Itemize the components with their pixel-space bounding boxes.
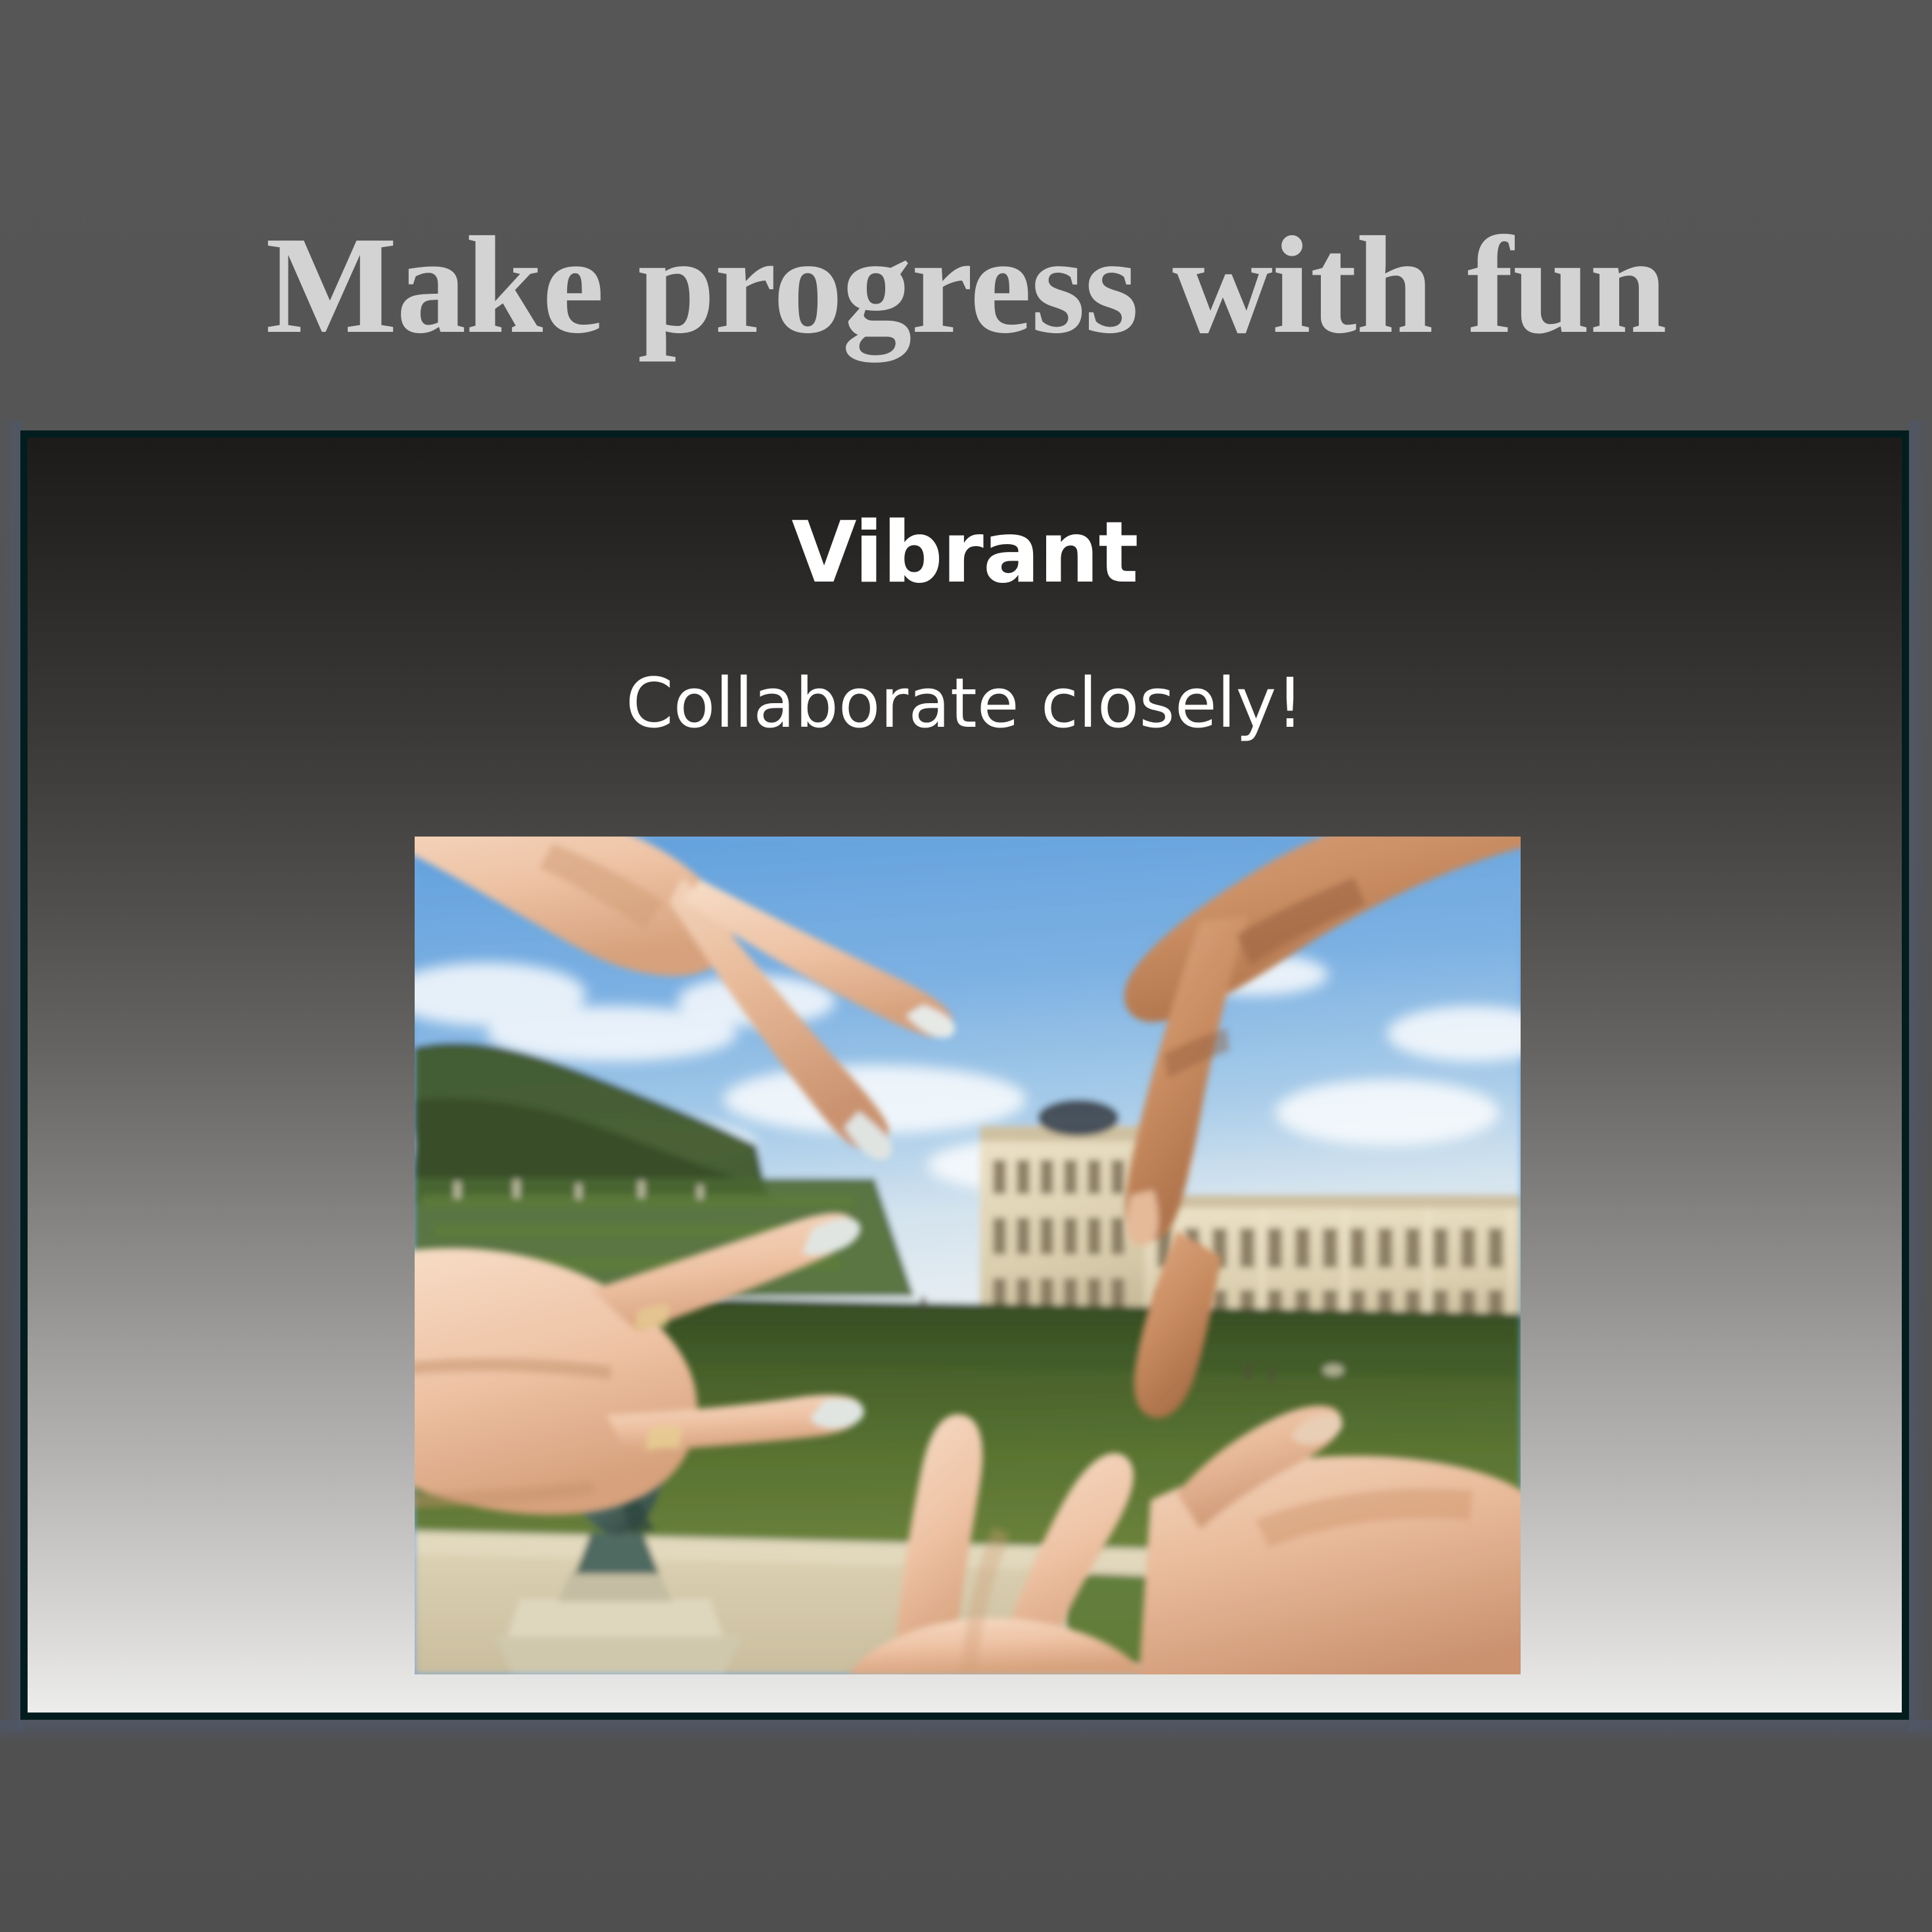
slide-root: Make progress with fun Vibrant Collabora… xyxy=(0,0,1932,1932)
slide-title: Make progress with fun xyxy=(0,212,1932,359)
photo-hands-star xyxy=(415,837,1521,1674)
panel-heading: Vibrant xyxy=(28,511,1902,595)
panel-subheading: Collaborate closely! xyxy=(28,669,1902,737)
panel-edge-glow-bottom xyxy=(0,1720,1932,1743)
panel-edge-glow-right xyxy=(1910,421,1932,1732)
content-panel: Vibrant Collaborate closely! xyxy=(20,430,1909,1720)
panel-edge-glow-left xyxy=(0,421,22,1732)
photo-illustration xyxy=(415,837,1521,1674)
panel-inner: Vibrant Collaborate closely! xyxy=(28,438,1902,1713)
